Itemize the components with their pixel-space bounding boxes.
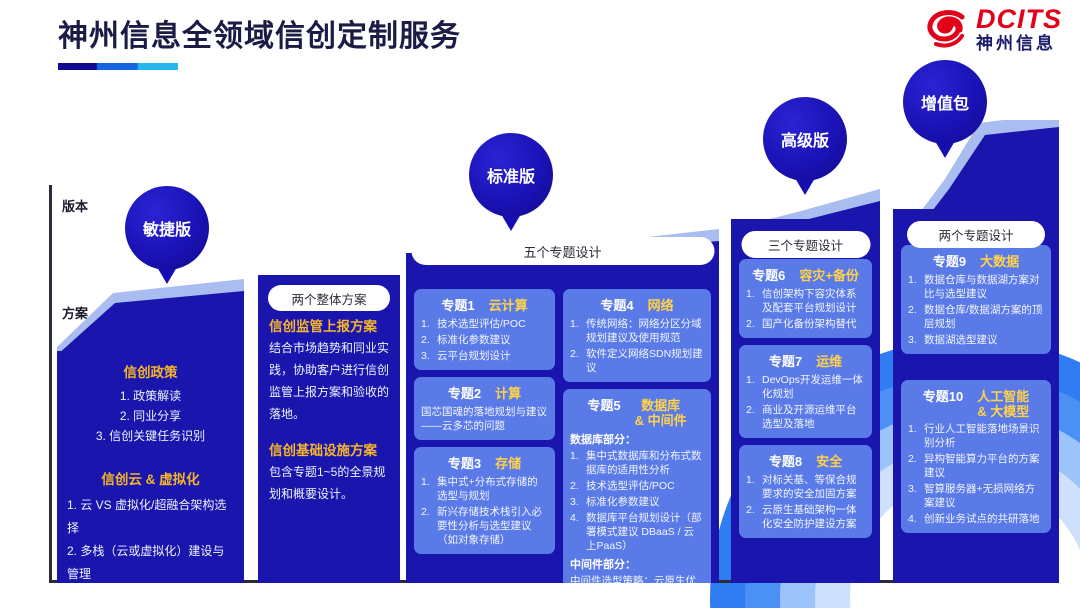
card-topic-6-item-2: 国产化备份架构替代 <box>762 317 857 331</box>
standard-left-stack: 专题1 云计算 1.技术选型评估/POC 2.标准化参数建议 3.云平台规划设计… <box>414 289 555 561</box>
pin-advanced-label-wrap: 高级版 <box>763 97 847 181</box>
card-topic-5-number: 专题5 <box>587 395 620 414</box>
pin-agile-label-wrap: 敏捷版 <box>125 186 209 270</box>
column-valueadd-body: 专题9 大数据 1.数据仓库与数据湖方案对比与选型建议 2.数据仓库/数据湖方案… <box>893 209 1059 583</box>
agile-s1-item-3: 3. 信创关键任务识别 <box>67 426 234 446</box>
card-topic-2-number: 专题2 <box>448 383 481 402</box>
card-topic-9-item-2: 数据仓库/数据湖方案的顶层规划 <box>924 303 1044 331</box>
card-topic-2-text: 国芯国魂的落地规划与建议——云多芯的问题 <box>421 405 548 433</box>
title-underline-bar <box>58 63 178 70</box>
agile-section1-heading: 信创政策 <box>67 361 234 381</box>
pill-overall-plans-label: 两个整体方案 <box>291 289 366 308</box>
card-topic-8-item-2: 云原生基础架构一体化安全防护建设方案 <box>762 503 865 531</box>
card-topic-6-item-1: 信创架构下容灾体系及配套平台规划设计 <box>762 287 865 315</box>
card-topic-1-item-1: 技术选型评估/POC <box>437 317 526 331</box>
card-topic-2[interactable]: 专题2 计算 国芯国魂的落地规划与建议——云多芯的问题 <box>414 377 555 440</box>
card-topic-10-item-4: 创新业务试点的共研落地 <box>924 512 1040 526</box>
card-topic-4-tag: 网络 <box>648 298 674 313</box>
pin-agile-label: 敏捷版 <box>143 216 191 240</box>
card-topic-5-item-1: 集中式数据库和分布式数据库的适用性分析 <box>586 449 704 477</box>
agile-s1-item-1: 1. 政策解读 <box>67 386 234 406</box>
column-overall-plans-body: 信创监管上报方案 结合市场趋势和同业实践，协助客户进行信创监管上报方案和验收的落… <box>258 275 400 583</box>
pin-valueadd-label: 增值包 <box>921 90 969 114</box>
card-topic-1[interactable]: 专题1 云计算 1.技术选型评估/POC 2.标准化参数建议 3.云平台规划设计 <box>414 289 555 370</box>
overall-block1-heading: 信创监管上报方案 <box>269 315 389 335</box>
column-standard-body: 专题1 云计算 1.技术选型评估/POC 2.标准化参数建议 3.云平台规划设计… <box>406 253 719 583</box>
card-topic-5-item-2: 技术选型评估/POC <box>586 479 675 493</box>
card-topic-10-tag: 人工智能 & 大模型 <box>977 389 1029 419</box>
card-topic-3[interactable]: 专题3 存储 1.集中式+分布式存储的选型与规划 2.新兴存储技术栈引入必要性分… <box>414 447 555 554</box>
card-topic-5-sub-2: 中间件部分： <box>570 556 704 572</box>
overall-block2-heading: 信创基础设施方案 <box>269 439 389 459</box>
card-topic-8-tag: 安全 <box>816 454 842 469</box>
card-topic-10-item-3: 智算服务器+无损网络方案建议 <box>924 482 1044 510</box>
slide-canvas: 神州信息全领域信创定制服务 DCITS 神州信息 版本 方案 信创政策 1. 政… <box>0 0 1080 608</box>
pill-overall-plans[interactable]: 两个整体方案 <box>268 285 390 311</box>
card-topic-4[interactable]: 专题4 网络 1.传统网络：网络分区分域规划建议及使用规范 2.软件定义网络SD… <box>563 289 711 382</box>
card-topic-9[interactable]: 专题9 大数据 1.数据仓库与数据湖方案对比与选型建议 2.数据仓库/数据湖方案… <box>901 245 1051 354</box>
card-topic-7-item-1: DevOps开发运维一体化规划 <box>762 373 865 401</box>
pill-valueadd-label: 两个专题设计 <box>938 225 1013 244</box>
overall-block-1: 信创监管上报方案 结合市场趋势和同业实践，协助客户进行信创监管上报方案和验收的落… <box>269 315 389 425</box>
overall-block-2: 信创基础设施方案 包含专题1~5的全景规划和概要设计。 <box>269 439 389 505</box>
column-overall-plans: 信创监管上报方案 结合市场趋势和同业实践，协助客户进行信创监管上报方案和验收的落… <box>258 275 400 583</box>
card-topic-7-number: 专题7 <box>769 351 802 370</box>
pin-standard-label: 标准版 <box>487 163 535 187</box>
card-topic-9-item-3: 数据湖选型建议 <box>924 333 998 347</box>
pill-valueadd[interactable]: 两个专题设计 <box>907 221 1045 248</box>
card-topic-7-item-2: 商业及开源运维平台选型及落地 <box>762 403 865 431</box>
card-topic-10-item-2: 异构智能算力平台的方案建议 <box>924 452 1044 480</box>
column-advanced: 专题6 容灾+备份 1.信创架构下容灾体系及配套平台规划设计 2.国产化备份架构… <box>731 185 880 583</box>
column-agile: 信创政策 1. 政策解读 2. 同业分享 3. 信创关键任务识别 信创云 & 虚… <box>57 255 244 583</box>
agile-s1-item-2: 2. 同业分享 <box>67 406 234 426</box>
card-topic-6-number: 专题6 <box>752 265 785 284</box>
overall-block2-text: 包含专题1~5的全景规划和概要设计。 <box>269 461 389 505</box>
card-topic-3-tag: 存储 <box>495 456 521 471</box>
card-topic-1-number: 专题1 <box>441 295 474 314</box>
card-topic-3-number: 专题3 <box>448 453 481 472</box>
column-standard: 专题1 云计算 1.技术选型评估/POC 2.标准化参数建议 3.云平台规划设计… <box>406 225 719 583</box>
card-topic-2-tag: 计算 <box>495 386 521 401</box>
card-topic-10-item-1: 行业人工智能落地场景识别分析 <box>924 422 1044 450</box>
pin-standard-label-wrap: 标准版 <box>469 133 553 217</box>
pin-standard[interactable]: 标准版 <box>469 133 553 217</box>
card-topic-9-item-1: 数据仓库与数据湖方案对比与选型建议 <box>924 273 1044 301</box>
card-topic-3-item-2: 新兴存储技术栈引入必要性分析与选型建议（如对象存储） <box>437 505 548 547</box>
card-topic-5[interactable]: 专题5 数据库 & 中间件 数据库部分： 1.集中式数据库和分布式数据库的适用性… <box>563 389 711 583</box>
overall-block1-text: 结合市场趋势和同业实践，协助客户进行信创监管上报方案和验收的落地。 <box>269 337 389 425</box>
agile-s2-item-2: 2. 多栈（云或虚拟化）建设与管理 <box>67 540 234 583</box>
standard-right-stack: 专题4 网络 1.传统网络：网络分区分域规划建议及使用规范 2.软件定义网络SD… <box>563 289 711 583</box>
card-topic-5-tag: 数据库 & 中间件 <box>635 398 687 428</box>
card-topic-10-number: 专题10 <box>923 386 963 405</box>
card-topic-7-tag: 运维 <box>816 354 842 369</box>
card-topic-4-item-1: 传统网络：网络分区分域规划建议及使用规范 <box>586 317 704 345</box>
card-topic-5-tail: 中间件选型策略：云原生优先+传统信创中间件+开源管理 <box>570 574 704 583</box>
column-advanced-body: 专题6 容灾+备份 1.信创架构下容灾体系及配套平台规划设计 2.国产化备份架构… <box>731 219 880 583</box>
card-topic-10[interactable]: 专题10 人工智能 & 大模型 1.行业人工智能落地场景识别分析 2.异构智能算… <box>901 380 1051 533</box>
pill-standard[interactable]: 五个专题设计 <box>411 237 714 265</box>
card-topic-6-tag: 容灾+备份 <box>799 268 859 283</box>
card-topic-3-item-1: 集中式+分布式存储的选型与规划 <box>437 475 548 503</box>
logo-chinese-top: 神州信息 <box>976 35 1062 52</box>
card-topic-4-item-2: 软件定义网络SDN规划建议 <box>586 347 704 375</box>
pin-valueadd[interactable]: 增值包 <box>903 60 987 144</box>
agile-section2-heading: 信创云 & 虚拟化 <box>67 468 234 488</box>
pill-advanced[interactable]: 三个专题设计 <box>741 231 870 258</box>
pin-advanced[interactable]: 高级版 <box>763 97 847 181</box>
agile-s2-item-1: 1. 云 VS 虚拟化/超融合架构选择 <box>67 494 234 540</box>
column-valueadd: 专题9 大数据 1.数据仓库与数据湖方案对比与选型建议 2.数据仓库/数据湖方案… <box>893 113 1059 583</box>
logo-text-group-top: DCITS 神州信息 <box>976 6 1062 52</box>
axis-label-version: 版本 <box>62 196 88 215</box>
swirl-e-icon-top <box>924 6 970 52</box>
card-topic-8-number: 专题8 <box>769 451 802 470</box>
card-topic-1-tag: 云计算 <box>489 298 528 313</box>
axis-vertical-line <box>49 185 52 583</box>
card-topic-5-item-3: 标准化参数建议 <box>586 495 660 509</box>
card-topic-1-item-3: 云平台规划设计 <box>437 349 511 363</box>
card-topic-8-item-1: 对标关基、等保合规要求的安全加固方案 <box>762 473 865 501</box>
card-topic-9-number: 专题9 <box>933 251 966 270</box>
card-topic-8[interactable]: 专题8 安全 1.对标关基、等保合规要求的安全加固方案 2.云原生基础架构一体化… <box>739 445 872 538</box>
logo-english-top: DCITS <box>976 6 1062 33</box>
card-topic-5-item-4: 数据库平台规划设计（部署模式建议 DBaaS / 云上PaaS） <box>586 511 704 553</box>
card-topic-5-sub-1: 数据库部分： <box>570 431 704 447</box>
pill-standard-label: 五个专题设计 <box>523 242 601 261</box>
card-topic-6[interactable]: 专题6 容灾+备份 1.信创架构下容灾体系及配套平台规划设计 2.国产化备份架构… <box>739 259 872 338</box>
column-agile-body: 信创政策 1. 政策解读 2. 同业分享 3. 信创关键任务识别 信创云 & 虚… <box>57 351 244 583</box>
card-topic-4-number: 专题4 <box>600 295 633 314</box>
page-title: 神州信息全领域信创定制服务 <box>58 16 461 58</box>
pill-advanced-label: 三个专题设计 <box>768 235 843 254</box>
pin-valueadd-label-wrap: 增值包 <box>903 60 987 144</box>
brand-logo-top: DCITS 神州信息 <box>924 6 1062 52</box>
card-topic-9-tag: 大数据 <box>980 254 1019 269</box>
card-topic-7[interactable]: 专题7 运维 1.DevOps开发运维一体化规划 2.商业及开源运维平台选型及落… <box>739 345 872 438</box>
pin-agile[interactable]: 敏捷版 <box>125 186 209 270</box>
card-topic-1-item-2: 标准化参数建议 <box>437 333 511 347</box>
page-title-group: 神州信息全领域信创定制服务 <box>58 16 461 70</box>
pin-advanced-label: 高级版 <box>781 127 829 151</box>
